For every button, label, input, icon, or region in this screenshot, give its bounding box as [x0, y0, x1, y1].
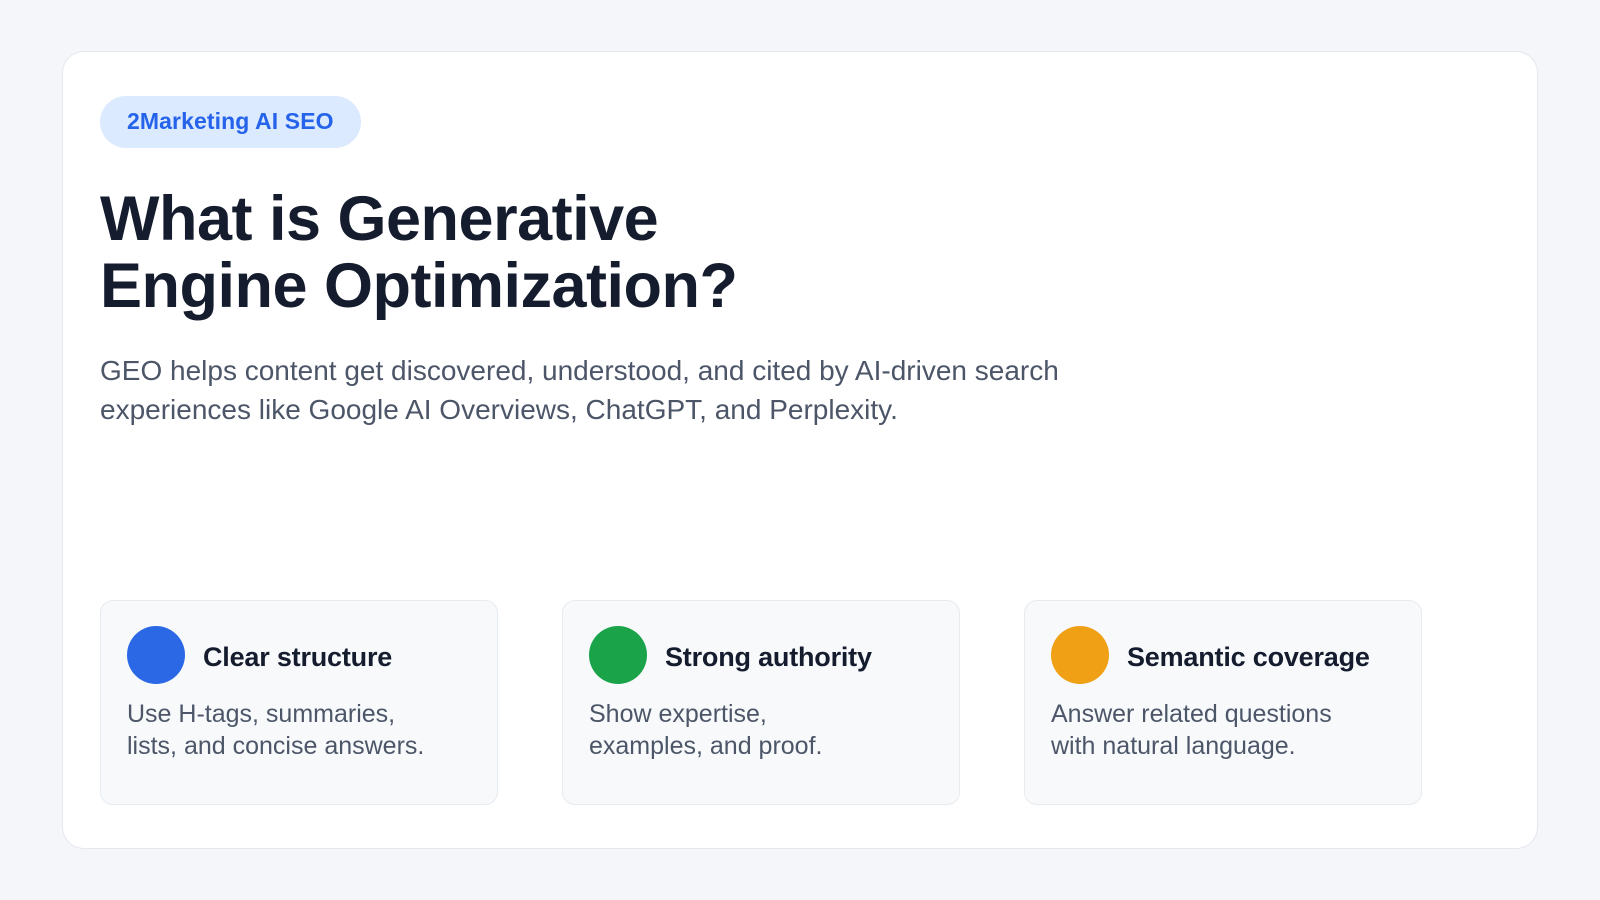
feature-card-title-text: Clear structure: [203, 642, 392, 672]
feature-card[interactable]: Clear structure Use H-tags, summaries, l…: [100, 600, 498, 805]
feature-card-title-text: Semantic coverage: [1127, 642, 1370, 672]
feature-card-body: Show expertise, examples, and proof.: [589, 698, 933, 762]
feature-card-title-text: Strong authority: [665, 642, 872, 672]
page-subtitle: GEO helps content get discovered, unders…: [100, 351, 1130, 431]
blue-dot-icon: [127, 626, 185, 684]
feature-card-title: Strong authority: [589, 626, 933, 684]
feature-card-body: Use H-tags, summaries, lists, and concis…: [127, 698, 471, 762]
feature-card-list: Clear structure Use H-tags, summaries, l…: [100, 600, 1422, 805]
page-root: 2Marketing AI SEO What is Generative Eng…: [0, 0, 1600, 900]
orange-dot-icon: [1051, 626, 1109, 684]
green-dot-icon: [589, 626, 647, 684]
feature-card[interactable]: Strong authority Show expertise, example…: [562, 600, 960, 805]
hero-panel: 2Marketing AI SEO What is Generative Eng…: [62, 51, 1538, 849]
feature-card-body: Answer related questions with natural la…: [1051, 698, 1395, 762]
hero-panel-content: 2Marketing AI SEO What is Generative Eng…: [100, 96, 1500, 848]
feature-card-title: Clear structure: [127, 626, 471, 684]
page-title: What is Generative Engine Optimization?: [100, 186, 800, 320]
feature-card[interactable]: Semantic coverage Answer related questio…: [1024, 600, 1422, 805]
feature-card-title: Semantic coverage: [1051, 626, 1395, 684]
category-badge[interactable]: 2Marketing AI SEO: [100, 96, 361, 148]
